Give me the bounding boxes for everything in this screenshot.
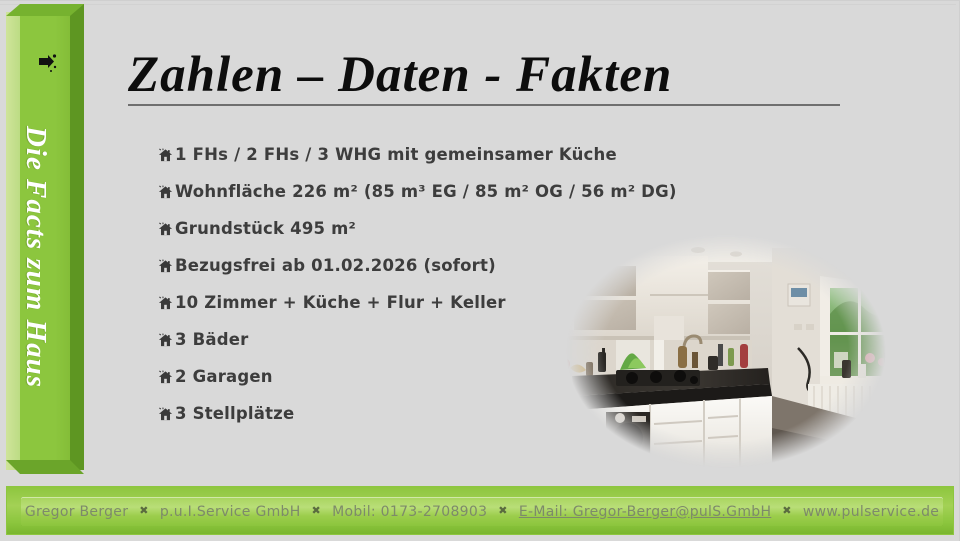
list-item-label: 10 Zimmer + Küche + Flur + Keller (175, 292, 506, 314)
contact-phone: Mobil: 0173-2708903 (323, 504, 496, 520)
contact-strip: Gregor Berger ✖ p.u.I.Service GmbH ✖ Mob… (16, 504, 948, 520)
sparkle-arrow-icon (32, 52, 62, 82)
separator-icon: ✖ (496, 504, 510, 517)
separator-icon: ✖ (780, 504, 794, 517)
slide-canvas: Die Facts zum Haus Zahlen – Daten - Fakt… (0, 0, 960, 541)
frame-line-top (0, 0, 960, 1)
list-item-label: 1 FHs / 2 FHs / 3 WHG mit gemeinsamer Kü… (175, 144, 617, 166)
list-item-label: Bezugsfrei ab 01.02.2026 (sofort) (175, 255, 496, 277)
house-icon (158, 222, 173, 237)
house-icon (158, 259, 173, 274)
house-icon (158, 333, 173, 348)
sidebar-label-wrap: Die Facts zum Haus (11, 87, 61, 427)
separator-icon: ✖ (310, 504, 324, 517)
list-item-label: 2 Garagen (175, 366, 273, 388)
contact-company: p.u.I.Service GmbH (151, 504, 310, 520)
list-item-label: 3 Stellplätze (175, 403, 294, 425)
list-item-label: 3 Bäder (175, 329, 248, 351)
separator-icon: ✖ (137, 504, 151, 517)
kitchen-photo (558, 228, 894, 474)
footer-bar: Gregor Berger ✖ p.u.I.Service GmbH ✖ Mob… (6, 486, 954, 535)
list-item-label: Grundstück 495 m² (175, 218, 356, 240)
house-icon (158, 407, 173, 422)
list-item: 1 FHs / 2 FHs / 3 WHG mit gemeinsamer Kü… (158, 144, 738, 181)
footer-inner-bar: Gregor Berger ✖ p.u.I.Service GmbH ✖ Mob… (21, 497, 943, 526)
sidebar-label: Die Facts zum Haus (20, 126, 53, 388)
house-icon (158, 185, 173, 200)
house-icon (158, 296, 173, 311)
contact-email[interactable]: E-Mail: Gregor-Berger@pulS.GmbH (510, 504, 780, 520)
contact-name: Gregor Berger (16, 504, 137, 520)
house-icon (158, 148, 173, 163)
house-icon (158, 370, 173, 385)
sidebar-right-bevel (70, 4, 84, 470)
page-title: Zahlen – Daten - Fakten (128, 46, 848, 104)
frame-line-inner (0, 4, 956, 5)
sidebar: Die Facts zum Haus (6, 2, 84, 480)
list-item-label: Wohnfläche 226 m² (85 m³ EG / 85 m² OG /… (175, 181, 677, 203)
list-item: Wohnfläche 226 m² (85 m³ EG / 85 m² OG /… (158, 181, 738, 218)
contact-website[interactable]: www.pulservice.de (794, 504, 948, 520)
title-underline (128, 104, 840, 106)
